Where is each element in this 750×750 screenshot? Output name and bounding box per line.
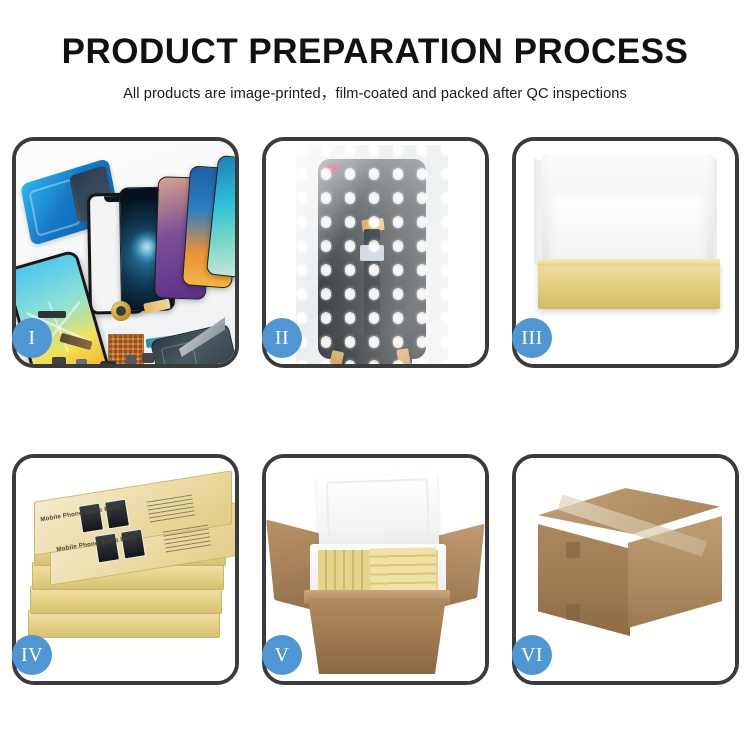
header: PRODUCT PREPARATION PROCESS All products… — [0, 34, 750, 103]
small-part-2-icon — [76, 359, 87, 364]
step-badge-4: IV — [12, 635, 52, 675]
step-panel-2: II — [262, 137, 489, 368]
speaker-coil-icon — [111, 301, 131, 321]
step-panel-3: III — [512, 137, 739, 368]
page-subtitle: All products are image-printed，film-coat… — [0, 82, 750, 103]
tape-tab-upper-icon — [566, 542, 580, 558]
tape-tab-lower-icon — [566, 604, 580, 620]
plastic-sheen — [296, 145, 448, 364]
yellow-boxes-inside-right — [370, 547, 437, 594]
step-badge-5: V — [262, 635, 302, 675]
step-panel-5: V — [262, 454, 489, 685]
carton-body — [308, 598, 446, 674]
step-panel-1: I — [12, 137, 239, 368]
yellow-tray-box — [538, 261, 720, 309]
small-part-4-icon — [126, 355, 136, 364]
product-preparation-infographic: PRODUCT PREPARATION PROCESS All products… — [0, 0, 750, 750]
step-panel-6: VI — [512, 454, 739, 685]
step-badge-6: VI — [512, 635, 552, 675]
bubble-wrap-bag — [296, 145, 448, 364]
small-part-1-icon — [52, 357, 66, 364]
small-part-5-icon — [142, 353, 154, 363]
small-part-3-icon — [100, 361, 116, 364]
foam-sheet — [550, 193, 706, 267]
stacked-box-5 — [28, 610, 220, 638]
foam-lid — [317, 470, 440, 554]
speaker-mesh-part-icon — [38, 311, 66, 318]
step-badge-1: I — [12, 318, 52, 358]
steps-grid: I — [12, 137, 738, 685]
stacked-box-4 — [30, 586, 222, 614]
box-stack: Mobile Phone Spare Parts Mobile Phone Sp… — [24, 482, 235, 662]
step-panel-4: Mobile Phone Spare Parts Mobile Phone Sp… — [12, 454, 239, 685]
page-title: PRODUCT PREPARATION PROCESS — [0, 34, 750, 71]
step-badge-2: II — [262, 318, 302, 358]
step-badge-3: III — [512, 318, 552, 358]
tray-lip — [538, 259, 720, 266]
